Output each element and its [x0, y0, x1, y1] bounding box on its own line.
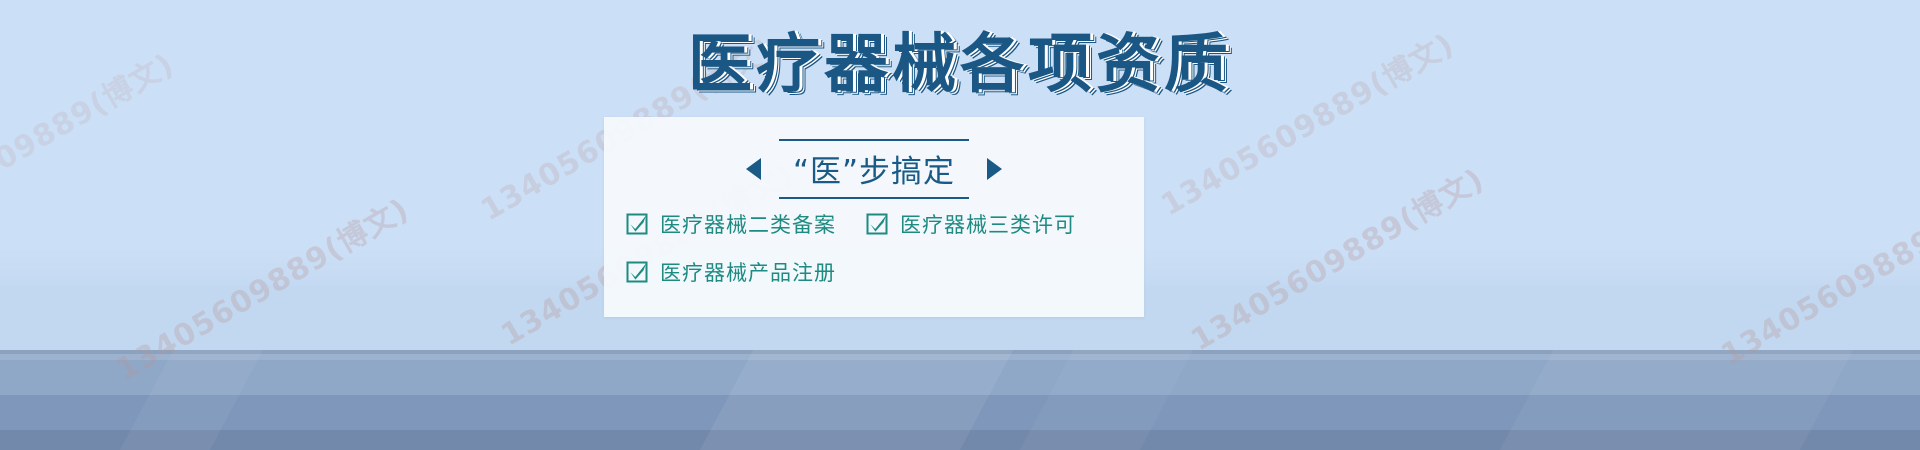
list-item[interactable]: 医疗器械二类备案 [626, 209, 836, 239]
info-card: “医”步搞定 医疗器械二类备案 [604, 117, 1144, 317]
watermark-text: 13405609889(博文) [1711, 170, 1920, 374]
subtitle-frame: “医”步搞定 [779, 139, 969, 199]
left-triangle-icon [746, 158, 761, 180]
checkbox-checked-icon [626, 213, 648, 235]
subtitle-row: “医”步搞定 [604, 139, 1144, 199]
list-item-label: 医疗器械产品注册 [660, 257, 836, 287]
background-band-footer [0, 430, 1920, 450]
list-item[interactable]: 医疗器械产品注册 [626, 257, 836, 287]
list-item[interactable]: 医疗器械三类许可 [866, 209, 1076, 239]
qualification-list: 医疗器械二类备案 医疗器械三类许可 [626, 209, 1126, 305]
list-row: 医疗器械产品注册 [626, 257, 1126, 287]
checkbox-checked-icon [866, 213, 888, 235]
list-item-label: 医疗器械二类备案 [660, 209, 836, 239]
checkbox-checked-icon [626, 261, 648, 283]
promo-banner: 13405609889(博文) 13405609889(博文) 13405609… [0, 0, 1920, 450]
background-divider-line [0, 350, 1920, 354]
watermark-text: 13405609889(博文) [1181, 155, 1491, 359]
card-subtitle: “医”步搞定 [793, 154, 955, 190]
right-triangle-icon [987, 158, 1002, 180]
list-row: 医疗器械二类备案 医疗器械三类许可 [626, 209, 1126, 239]
banner-title: 医疗器械各项资质 [0, 32, 1920, 99]
list-item-label: 医疗器械三类许可 [900, 209, 1076, 239]
